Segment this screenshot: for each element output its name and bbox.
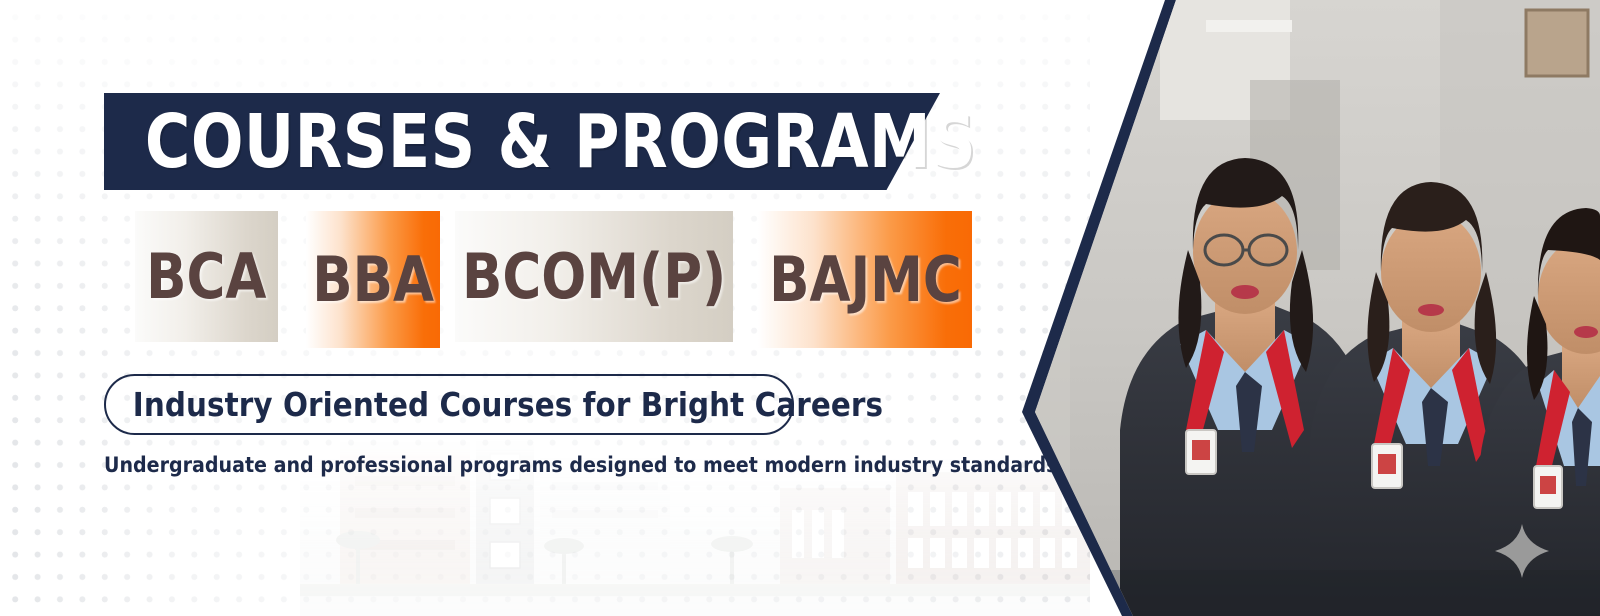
course-tag-list: BCA BBA BCOM(P) BAJMC (135, 211, 995, 351)
tagline-pill: Industry Oriented Courses for Bright Car… (104, 374, 794, 435)
course-tag-bcomp[interactable]: BCOM(P) (455, 211, 733, 342)
page-title: COURSES & PROGRAMS (104, 93, 881, 190)
course-tag-bajmc[interactable]: BAJMC (758, 211, 972, 348)
subtitle-text: Undergraduate and professional programs … (104, 454, 1050, 479)
course-tag-label: BAJMC (769, 249, 962, 311)
course-tag-bba[interactable]: BBA (306, 211, 440, 348)
sparkle-icon (1493, 522, 1551, 580)
course-tag-label: BBA (312, 249, 434, 311)
course-tag-bca[interactable]: BCA (135, 211, 278, 342)
course-tag-label: BCA (146, 246, 266, 308)
tagline-text: Industry Oriented Courses for Bright Car… (133, 388, 883, 421)
banner-title-block: COURSES & PROGRAMS (104, 93, 940, 190)
course-tag-label: BCOM(P) (462, 246, 726, 308)
courses-and-programs-banner: COURSES & PROGRAMS BCA BBA BCOM(P) BAJMC… (0, 0, 1600, 616)
